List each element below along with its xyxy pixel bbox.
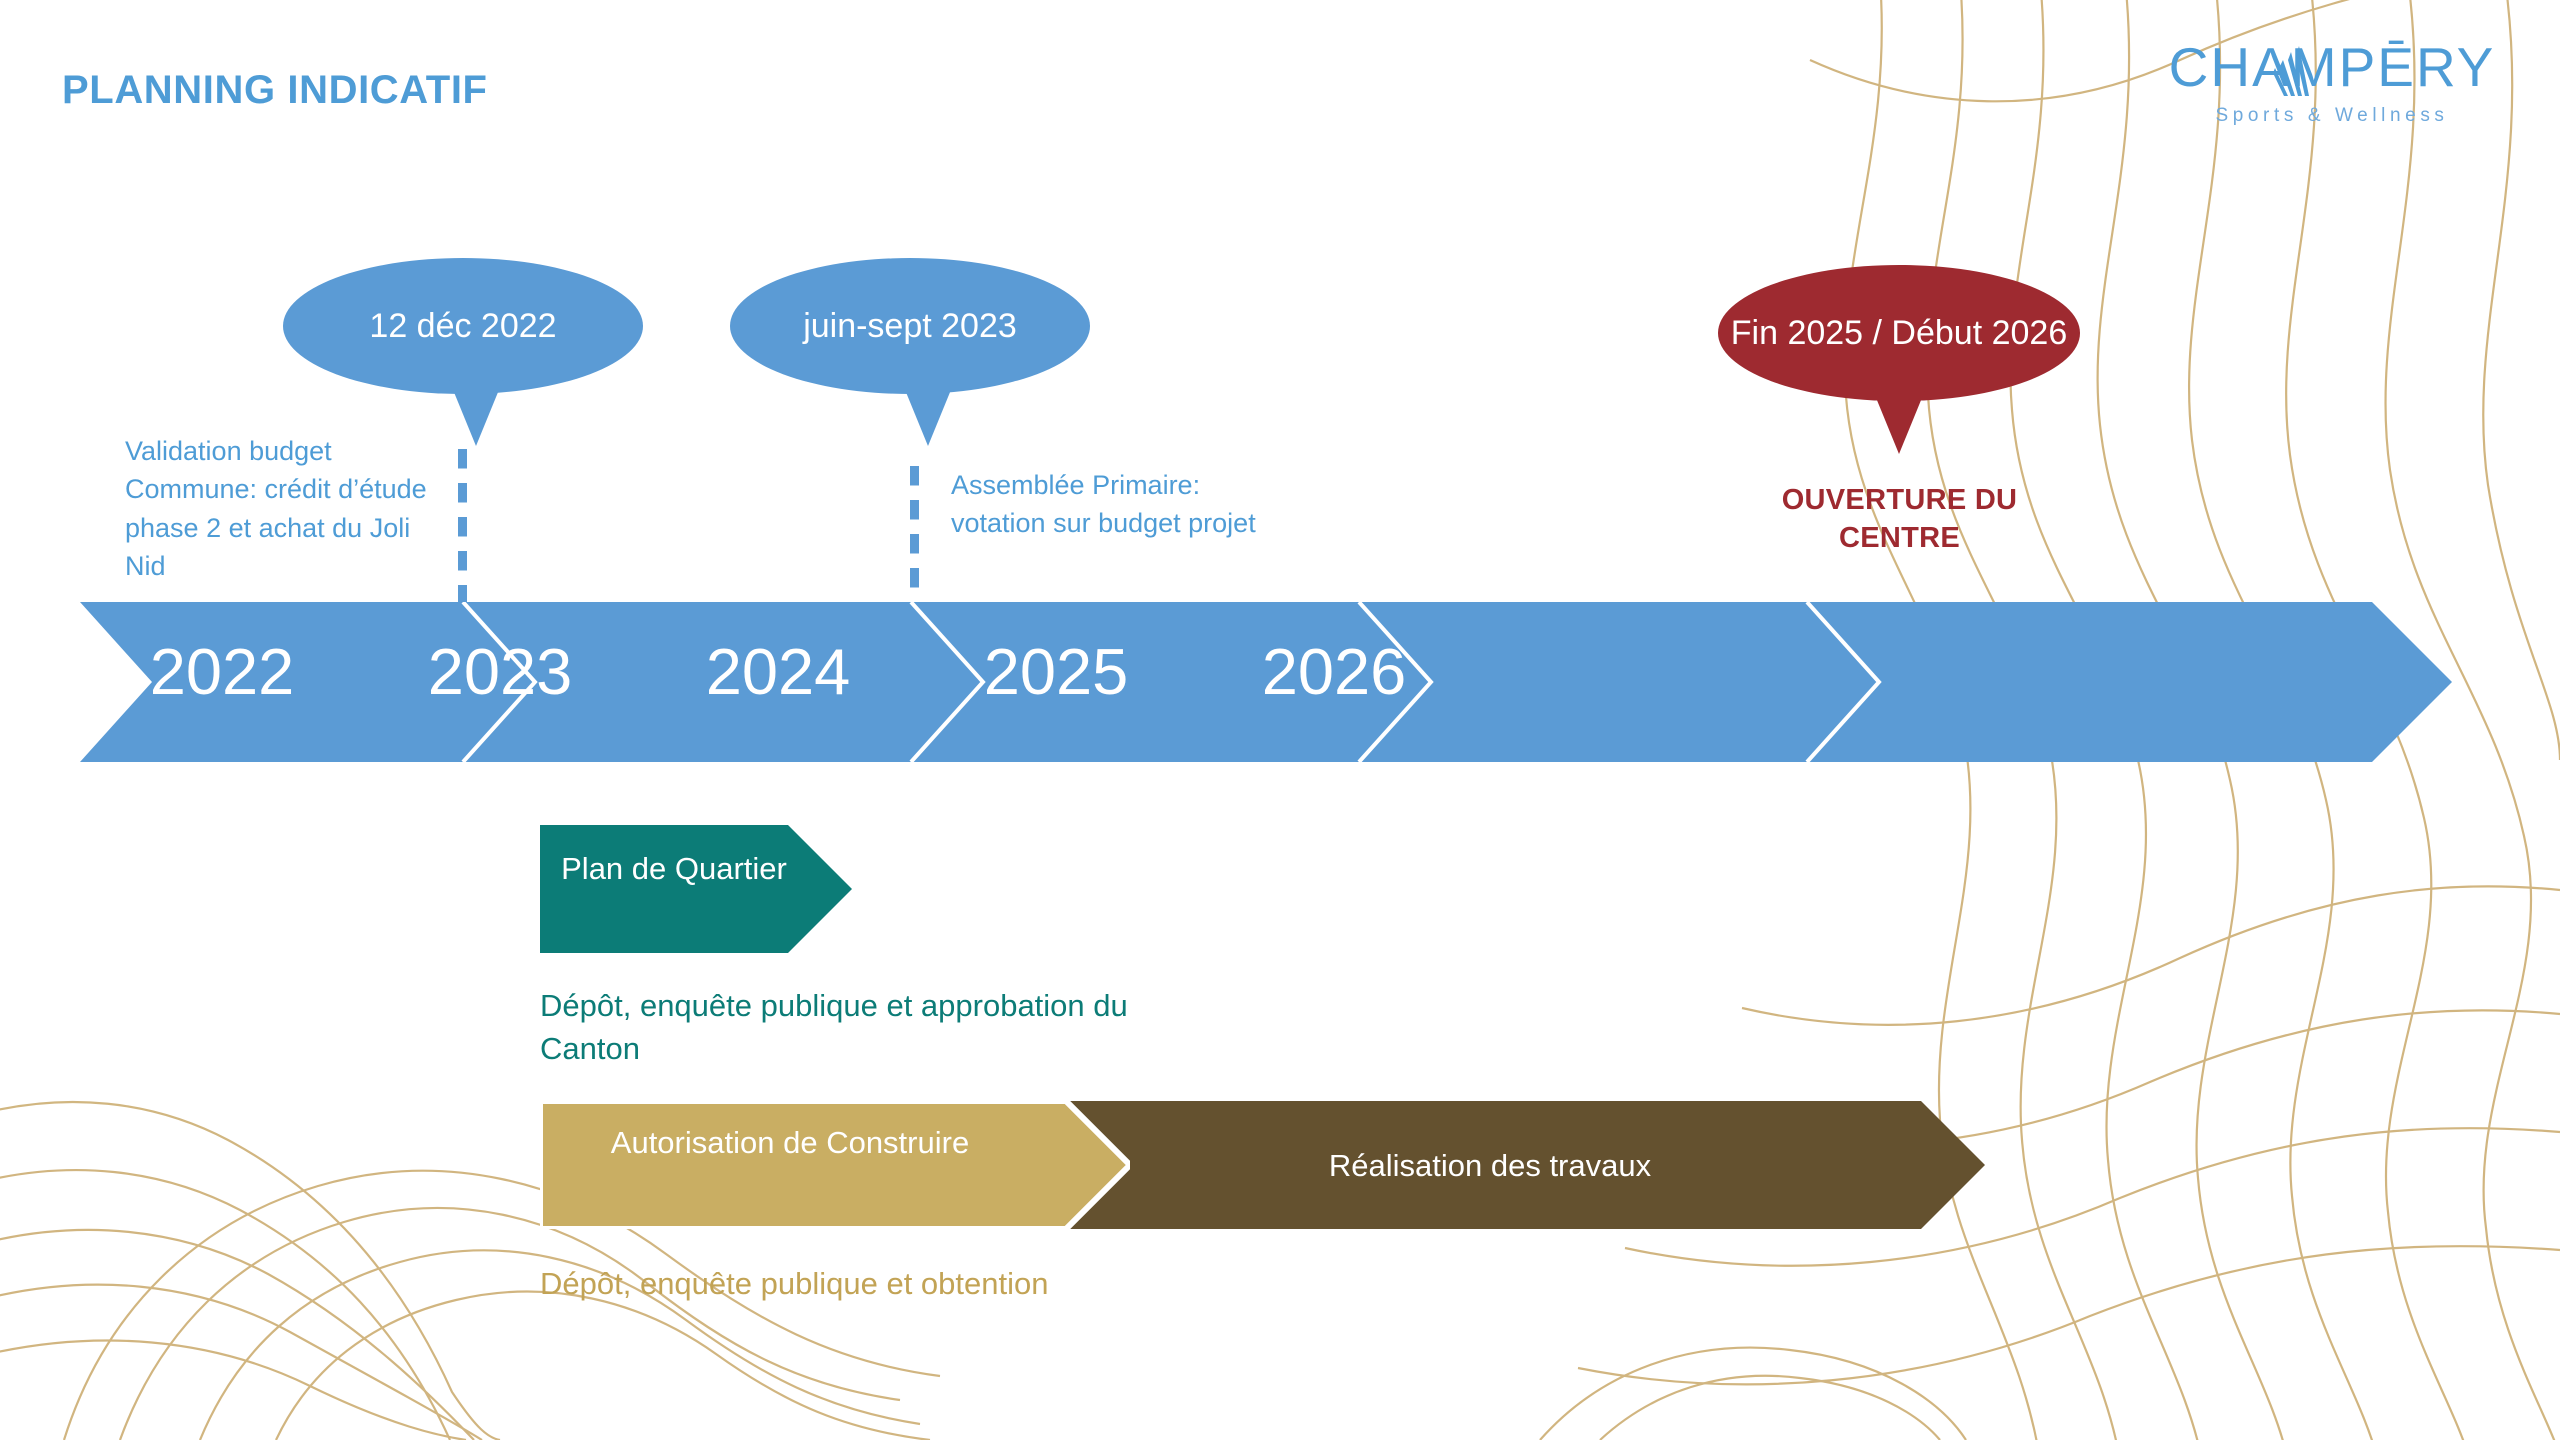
logo-wordmark: CHAMPĒRY — [2152, 40, 2512, 95]
milestone-note-validation-budget: Validation budget Commune: crédit d’étud… — [125, 432, 435, 585]
workstream-bar-autorisation-de-construire — [540, 1101, 1130, 1229]
timeline-year-2023: 2023 — [350, 634, 650, 709]
milestone-note-ouverture-centre: OUVERTURE DU CENTRE — [1727, 481, 2072, 558]
milestone-dashed-connector — [458, 449, 467, 602]
bubble-tail-icon — [1872, 388, 1926, 454]
workstream-label-realisation-des-travaux: Réalisation des travaux — [1060, 1147, 1920, 1186]
workstream-note-plan-de-quartier: Dépôt, enquête publique et approbation d… — [540, 984, 1160, 1071]
workstream-bar-plan-de-quartier — [540, 825, 852, 953]
timeline-year-2026: 2026 — [1184, 634, 1484, 709]
slide-canvas: PLANNING INDICATIF CHAMPĒRY Sports & Wel… — [0, 0, 2560, 1440]
logo-tagline: Sports & Wellness — [2152, 106, 2512, 125]
champery-logo: CHAMPĒRY Sports & Wellness — [2152, 40, 2512, 125]
workstream-label-plan-de-quartier: Plan de Quartier — [540, 850, 808, 889]
milestone-dashed-connector — [910, 466, 919, 602]
mountain-peaks-icon — [2269, 46, 2331, 96]
milestone-bubble-ouverture-centre: Fin 2025 / Début 2026 — [1718, 265, 2080, 401]
workstream-label-autorisation-de-construire: Autorisation de Construire — [540, 1124, 1040, 1163]
timeline-year-2022: 2022 — [72, 634, 372, 709]
bubble-tail-icon — [901, 380, 955, 446]
milestone-bubble-validation-budget: 12 déc 2022 — [283, 258, 643, 394]
bubble-tail-icon — [449, 380, 503, 446]
timeline-year-2025: 2025 — [906, 634, 1206, 709]
workstream-note-autorisation-de-construire: Dépôt, enquête publique et obtention — [540, 1262, 1060, 1305]
timeline-year-2024: 2024 — [628, 634, 928, 709]
milestone-note-assemblee-primaire: Assemblée Primaire: votation sur budget … — [951, 466, 1296, 543]
milestone-bubble-assemblee-primaire: juin-sept 2023 — [730, 258, 1090, 394]
page-title: PLANNING INDICATIF — [62, 68, 488, 113]
